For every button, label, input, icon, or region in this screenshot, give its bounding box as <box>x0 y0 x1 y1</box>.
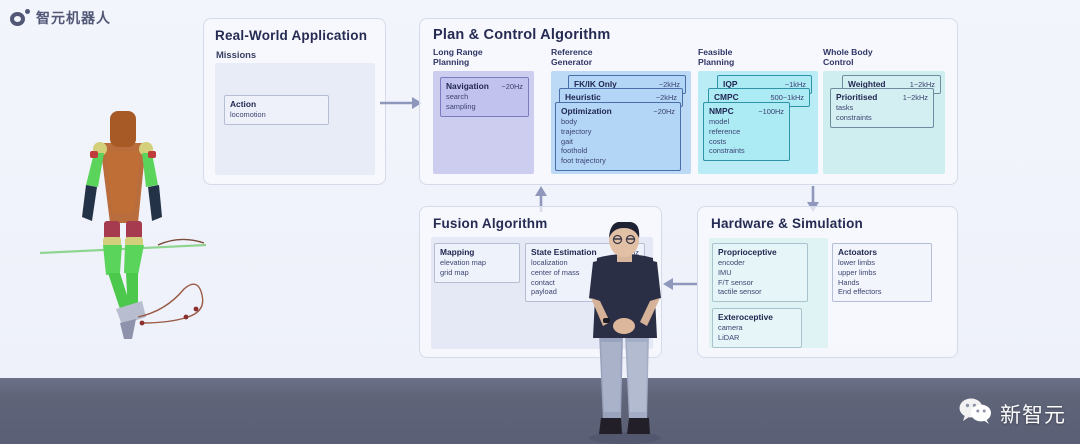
list-item: foothold <box>561 146 675 156</box>
card-proprioceptive[interactable]: Proprioceptive encoder IMU F/T sensor ta… <box>712 243 808 302</box>
list-item: grid map <box>440 268 514 278</box>
list-item: reference <box>709 127 784 137</box>
list-item: LiDAR <box>718 333 796 343</box>
stage-floor <box>0 378 1080 444</box>
card-prioritised-name: Prioritised <box>836 92 877 102</box>
list-item: lower limbs <box>838 258 926 268</box>
column-label-long-range-planning: Long Range Planning <box>433 48 483 68</box>
wechat-watermark: 新智元 <box>959 397 1066 430</box>
hardware-title: Hardware & Simulation <box>711 216 863 231</box>
screenshot-root: 智元机器人 <box>0 0 1080 444</box>
list-item: locomotion <box>230 110 323 120</box>
list-item: elevation map <box>440 258 514 268</box>
plan-control-title: Plan & Control Algorithm <box>433 27 610 43</box>
column-label-whole-body-control: Whole Body Control <box>823 48 873 68</box>
card-cmpc-name: CMPC <box>714 92 739 102</box>
card-navigation-hz: ~20Hz <box>501 82 523 91</box>
list-item: foot trajectory <box>561 156 675 166</box>
card-prioritised-items: tasks constraints <box>836 103 928 123</box>
card-prioritised[interactable]: Prioritised 1~2kHz tasks constraints <box>830 88 934 128</box>
list-item: search <box>446 92 523 102</box>
list-item: F/T sensor <box>718 278 802 288</box>
card-mapping-name: Mapping <box>440 247 474 257</box>
card-exteroceptive-name: Exteroceptive <box>718 312 773 322</box>
card-exteroceptive[interactable]: Exteroceptive camera LiDAR <box>712 308 802 348</box>
card-cmpc-hz: 500~1kHz <box>771 93 805 102</box>
card-proprioceptive-items: encoder IMU F/T sensor tactile sensor <box>718 258 802 297</box>
card-nmpc-hz: ~100Hz <box>758 107 784 116</box>
agibot-logo-icon <box>10 9 30 27</box>
card-mapping[interactable]: Mapping elevation map grid map <box>434 243 520 283</box>
presenter-person <box>577 222 673 444</box>
card-action-items: locomotion <box>230 110 323 120</box>
list-item: IMU <box>718 268 802 278</box>
card-actoators[interactable]: Actoators lower limbs upper limbs Hands … <box>832 243 932 302</box>
watermark-label: 新智元 <box>1000 399 1066 429</box>
column-label-feasible-planning: Feasible Planning <box>698 48 734 68</box>
list-item: End effectors <box>838 287 926 297</box>
list-item: body <box>561 117 675 127</box>
card-navigation[interactable]: Navigation ~20Hz search sampling <box>440 77 529 117</box>
wechat-icon <box>959 397 993 430</box>
list-item: model <box>709 117 784 127</box>
list-item: tasks <box>836 103 928 113</box>
list-item: costs <box>709 137 784 147</box>
card-actoators-name: Actoators <box>838 247 877 257</box>
panel-hardware-simulation: Hardware & Simulation Proprioceptive enc… <box>697 206 958 358</box>
card-action[interactable]: Action locomotion <box>224 95 329 125</box>
list-item: sampling <box>446 102 523 112</box>
real-world-subtitle: Missions <box>216 49 256 60</box>
card-optimization-name: Optimization <box>561 106 612 116</box>
real-world-title: Real-World Application <box>215 28 367 43</box>
list-item: upper limbs <box>838 268 926 278</box>
card-heuristic-hz: ~2kHz <box>656 93 677 102</box>
list-item: constraints <box>709 146 784 156</box>
card-optimization-items: body trajectory gait foothold foot traje… <box>561 117 675 166</box>
panel-real-world-application: Real-World Application Missions Action l… <box>203 18 386 185</box>
list-item: trajectory <box>561 127 675 137</box>
card-optimization[interactable]: Optimization ~20Hz body trajectory gait … <box>555 102 681 171</box>
card-actoators-items: lower limbs upper limbs Hands End effect… <box>838 258 926 297</box>
card-nmpc[interactable]: NMPC ~100Hz model reference costs constr… <box>703 102 790 161</box>
card-navigation-name: Navigation <box>446 81 489 91</box>
list-item: Hands <box>838 278 926 288</box>
card-action-name: Action <box>230 99 256 109</box>
list-item: tactile sensor <box>718 287 802 297</box>
card-optimization-hz: ~20Hz <box>653 107 675 116</box>
column-label-reference-generator: Reference Generator <box>551 48 593 68</box>
list-item: constraints <box>836 113 928 123</box>
brand-logo-label: 智元机器人 <box>36 8 111 28</box>
list-item: encoder <box>718 258 802 268</box>
card-proprioceptive-name: Proprioceptive <box>718 247 777 257</box>
card-prioritised-hz: 1~2kHz <box>903 93 928 102</box>
brand-logo: 智元机器人 <box>10 8 111 28</box>
card-navigation-items: search sampling <box>446 92 523 112</box>
card-mapping-items: elevation map grid map <box>440 258 514 278</box>
list-item: gait <box>561 137 675 147</box>
card-heuristic-name: Heuristic <box>565 92 601 102</box>
fusion-title: Fusion Algorithm <box>433 216 547 231</box>
list-item: camera <box>718 323 796 333</box>
arrow-realworld-to-plan <box>380 95 424 111</box>
panel-plan-control-algorithm: Plan & Control Algorithm Long Range Plan… <box>419 18 958 185</box>
card-exteroceptive-items: camera LiDAR <box>718 323 796 343</box>
humanoid-robot-render <box>38 95 208 345</box>
card-nmpc-name: NMPC <box>709 106 734 116</box>
card-nmpc-items: model reference costs constraints <box>709 117 784 156</box>
